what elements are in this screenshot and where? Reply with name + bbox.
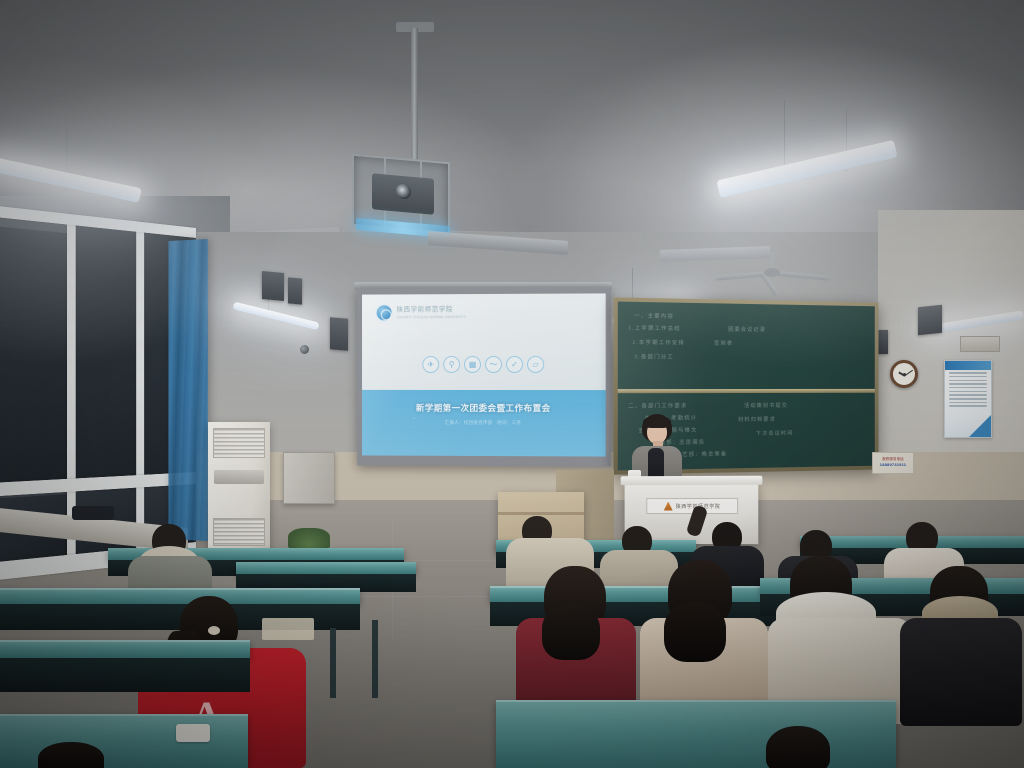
student-beige-coat [640,560,770,710]
desk-row-back-left-2 [236,562,416,574]
poster-header-bar [945,361,991,370]
student-body [900,618,1022,726]
projector-pipe [411,28,418,160]
desk-leg-1 [330,628,336,698]
tissue-pack [176,724,210,742]
ac-bottom-grill [213,518,265,546]
air-conditioner-wall-box [960,336,1000,352]
clock-center [903,373,906,376]
poster-text-line [949,391,987,393]
safety-notice-poster [944,360,992,438]
wall-speaker-right-1 [918,305,942,336]
slide-logo-subname: SHAANXI XUEQIAN NORMAL UNIVERSITY [397,315,467,319]
window-pane-1 [0,226,67,483]
window-pane-2 [76,223,136,478]
projection-screen: 陕西学前师范学院 SHAANXI XUEQIAN NORMAL UNIVERSI… [357,287,611,466]
poster-text-line [949,376,987,378]
electrical-cabinet [283,452,335,504]
carton-tape [498,512,584,515]
desk-leg-2 [372,620,378,698]
presenter-fringe [643,416,671,428]
student-closest-left [30,742,126,768]
student-head [766,726,830,768]
student-hair [542,604,600,660]
desk-edge-mid-left [0,588,360,590]
student-dark-red-coat [516,566,638,706]
potted-plant [288,528,330,550]
student-closest-right [756,726,846,768]
desk-edge-closest-left [0,714,248,716]
ceiling-fan-hub [764,268,780,277]
document-icon: ▱ [527,356,544,373]
ac-control-panel [214,470,264,484]
floor-air-conditioner [208,422,270,550]
projector-lens-icon [396,183,411,199]
desk-front-front-left [0,658,250,692]
student-hair [664,602,726,662]
podium-top-surface [621,476,763,485]
desk-row-front-left [0,640,250,658]
slide-upper-panel: 陕西学前师范学院 SHAANXI XUEQIAN NORMAL UNIVERSI… [362,293,606,390]
slide-title: 新学期第一次团委会暨工作布置会 [362,402,606,414]
security-camera-icon [300,345,309,354]
notebook [262,618,314,640]
search-icon: ⚲ [443,356,460,373]
poster-corner-accent [969,415,991,437]
hair-clip-icon [208,626,220,635]
poster-text-line [949,405,987,407]
desk-edge-closest-right [496,700,896,702]
classroom-photo: 陕西学前师范学院 SHAANXI XUEQIAN NORMAL UNIVERSI… [0,0,1024,768]
wall-speaker-left-3 [330,317,348,351]
repair-phone-sign: 报修服务电话 18889731911 [872,452,914,474]
poster-text-line [949,394,987,396]
grid-icon: ▦ [464,356,481,373]
poster-text-line [949,372,987,374]
student-head [38,742,104,768]
poster-text-line [949,383,987,385]
poster-text-line [949,402,987,404]
student-gray-hoodie [122,524,214,596]
slide-subtitle: 汇报人：校团委宣传部 时间：三月 [362,420,606,427]
bird-icon: 〜 [485,356,502,373]
poster-text-line [949,398,987,400]
slide-logo: 陕西学前师范学院 SHAANXI XUEQIAN NORMAL UNIVERSI… [376,304,466,321]
slide-logo-name: 陕西学前师范学院 [397,307,467,315]
pushpin-icon: ✈ [422,356,439,373]
wall-clock [890,360,918,388]
ac-top-grill [213,428,265,458]
student-dark-coat-right-front [900,566,1024,720]
bag-on-sill [72,506,114,520]
repair-phone-number: 18889731911 [873,462,913,468]
desk-edge-front-left [0,640,250,642]
clip-icon: ✓ [506,356,523,373]
light-hanger-1 [66,120,67,180]
university-emblem-icon [376,304,393,321]
window-curtain [168,239,207,541]
wall-speaker-left-1 [262,271,284,301]
university-emblem-icon [664,502,673,511]
slide-icon-row: ✈ ⚲ ▦ 〜 ✓ ▱ [362,356,606,373]
window-mullion-2 [136,221,144,564]
student-white-puffer [768,556,914,716]
poster-text-line [949,380,987,382]
light-hanger-2 [784,100,785,172]
poster-text-line [949,387,987,389]
wall-speaker-left-2 [288,277,302,304]
